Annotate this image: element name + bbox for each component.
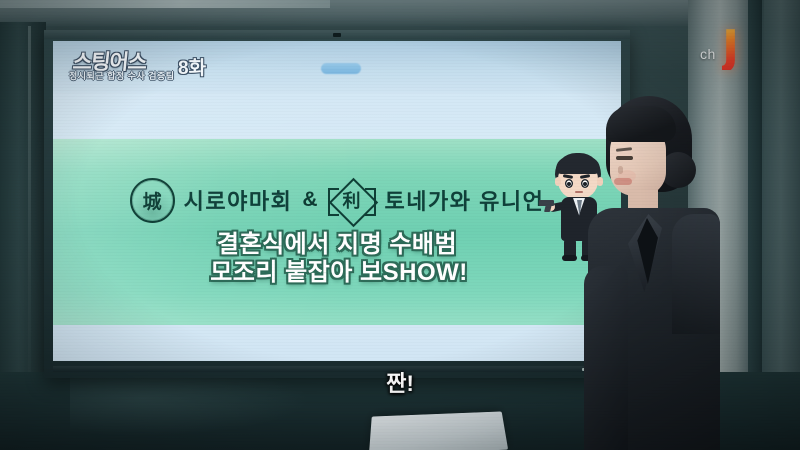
mascot-mouth [575, 191, 583, 193]
slogan-line-2: 모조리 붙잡아 보SHOW! [53, 259, 621, 287]
video-frame: 스팅어스 정시퇴근 합정 수사 검증팀 8화 城 시로야마회 & 利 [0, 0, 800, 450]
presentation-display: 스팅어스 정시퇴근 합정 수사 검증팀 8화 城 시로야마회 & 利 [44, 30, 630, 378]
mascot-shoe-left [562, 255, 577, 261]
presenter-nose [618, 166, 623, 174]
show-subtitle: 정시퇴근 합정 수사 검증팀 [69, 69, 175, 82]
mascot-ear-left [555, 177, 561, 186]
display-camera-icon [333, 33, 341, 37]
shiroyama-emblem-icon: 城 [130, 178, 175, 223]
presenter-smile [614, 178, 632, 185]
presenter-arm [584, 266, 628, 450]
slide-canvas: 스팅어스 정시퇴근 합정 수사 검증팀 8화 城 시로야마회 & 利 [53, 41, 621, 361]
presenter-shoulder [672, 214, 720, 334]
subtitle-caption: 짠! [0, 366, 800, 398]
tonegawa-emblem-icon: 利 [328, 180, 376, 220]
episode-badge: 8화 [178, 53, 206, 80]
emblem-kanji: 利 [343, 187, 361, 213]
ceiling-highlight [0, 0, 330, 8]
slogan-line-1: 결혼식에서 지명 수배범 [53, 231, 621, 259]
ampersand: & [301, 188, 318, 212]
channel-logo-prefix: ch [700, 46, 716, 62]
mascot-pupil-left [567, 182, 571, 186]
right-organization-name: 토네가와 유니언 [385, 184, 545, 216]
channel-logo-mark-icon: J [722, 24, 739, 70]
emblem-bracket-right [365, 188, 376, 216]
display-screen: 스팅어스 정시퇴근 합정 수사 검증팀 8화 城 시로야마회 & 利 [53, 41, 621, 361]
slide-header-pill [321, 63, 361, 74]
mascot-pupil-right [583, 182, 587, 186]
left-organization-name: 시로야마회 [184, 184, 293, 216]
slide-green-band: 城 시로야마회 & 利 토네가와 유니언 결혼식에서 지명 수배범 [53, 139, 621, 325]
channel-logo: ch J [700, 26, 762, 78]
laptop-lid [369, 411, 508, 450]
presenter-eye [616, 156, 633, 160]
organization-row: 城 시로야마회 & 利 토네가와 유니언 [53, 173, 621, 227]
presenter-hair-front [606, 106, 676, 142]
slide-slogan: 결혼식에서 지명 수배범 모조리 붙잡아 보SHOW! [53, 231, 621, 288]
